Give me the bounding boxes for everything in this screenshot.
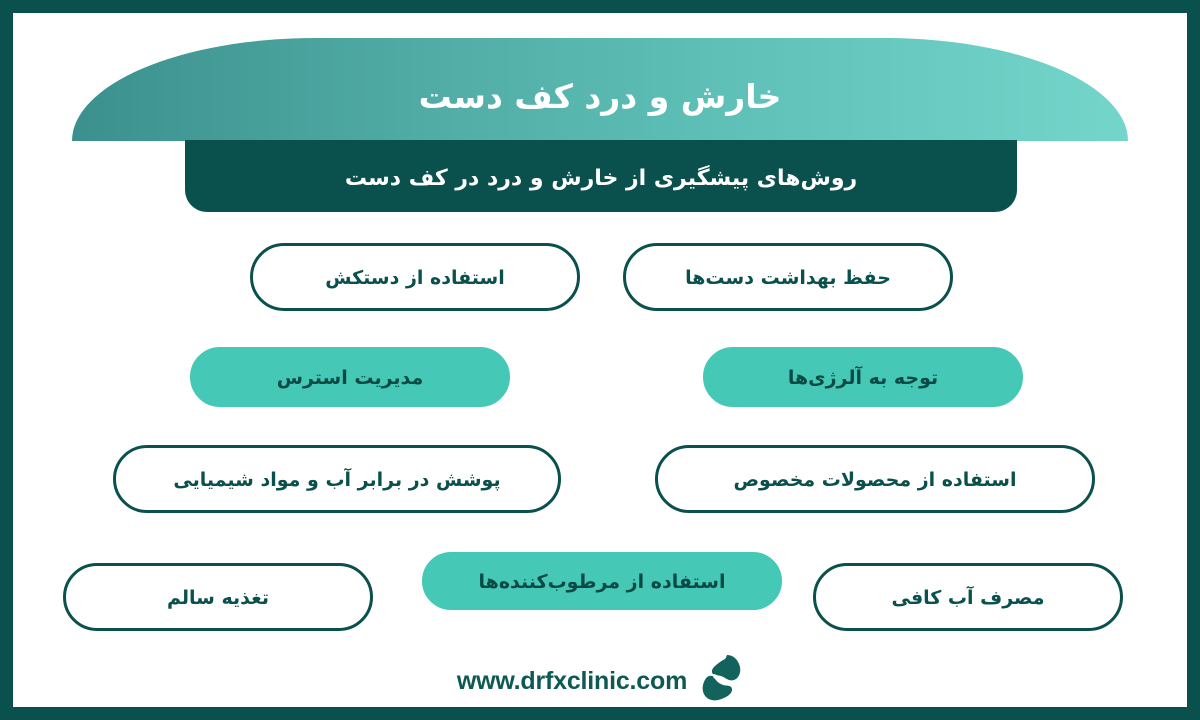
tip-pill-label: حفظ بهداشت دست‌ها	[685, 267, 891, 288]
page-title: خارش و درد کف دست	[72, 80, 1128, 113]
border-frame-right	[1187, 0, 1200, 720]
tip-pill-stress-management[interactable]: مدیریت استرس	[190, 347, 510, 407]
tip-pill-special-products[interactable]: استفاده از محصولات مخصوص	[655, 445, 1095, 513]
tip-pill-drink-enough-water[interactable]: مصرف آب کافی	[813, 563, 1123, 631]
infographic-poster: خارش و درد کف دست روش‌های پیشگیری از خار…	[0, 0, 1200, 720]
tip-pill-water-chemical-protection[interactable]: پوشش در برابر آب و مواد شیمیایی	[113, 445, 561, 513]
border-frame-top	[0, 0, 1200, 13]
drfx-clinic-logo-icon	[697, 654, 743, 704]
tip-pill-use-gloves[interactable]: استفاده از دستکش	[250, 243, 580, 311]
tip-pill-label: استفاده از محصولات مخصوص	[734, 469, 1017, 490]
border-frame-left	[0, 0, 13, 720]
tip-pill-use-moisturizers[interactable]: استفاده از مرطوب‌کننده‌ها	[422, 552, 782, 610]
tip-pill-label: استفاده از دستکش	[325, 267, 505, 288]
tip-pill-healthy-nutrition[interactable]: تغذیه سالم	[63, 563, 373, 631]
border-frame-bottom	[0, 707, 1200, 720]
tip-pill-allergy-awareness[interactable]: توجه به آلرژی‌ها	[703, 347, 1023, 407]
tip-pill-label: تغذیه سالم	[167, 587, 269, 608]
tip-pill-label: استفاده از مرطوب‌کننده‌ها	[479, 571, 726, 592]
tip-pill-hand-hygiene[interactable]: حفظ بهداشت دست‌ها	[623, 243, 953, 311]
tip-pill-label: مصرف آب کافی	[891, 587, 1044, 608]
tip-pill-label: توجه به آلرژی‌ها	[788, 367, 938, 388]
poster-canvas: خارش و درد کف دست روش‌های پیشگیری از خار…	[13, 13, 1187, 707]
website-url[interactable]: www.drfxclinic.com	[457, 667, 687, 696]
page-subtitle: روش‌های پیشگیری از خارش و درد در کف دست	[345, 162, 857, 191]
tip-pill-label: مدیریت استرس	[277, 367, 424, 388]
header-banner: خارش و درد کف دست	[72, 38, 1128, 141]
tip-pill-label: پوشش در برابر آب و مواد شیمیایی	[173, 469, 500, 490]
subtitle-bar: روش‌های پیشگیری از خارش و درد در کف دست	[185, 140, 1017, 212]
footer: www.drfxclinic.com	[13, 655, 1187, 707]
